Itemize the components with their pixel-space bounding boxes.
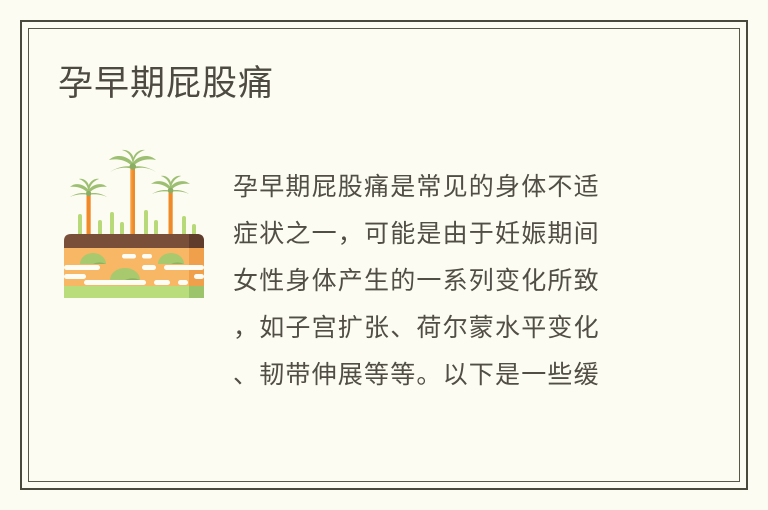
palm-tree-center-icon — [109, 150, 156, 236]
grass-blades-icon — [78, 210, 196, 236]
soil-cross-section — [64, 234, 204, 298]
article-illustration — [58, 148, 210, 298]
page-title: 孕早期屁股痛 — [58, 61, 274, 107]
article-body: 孕早期屁股痛是常见的身体不适 症状之一，可能是由于妊娠期间 女性身体产生的一系列… — [233, 163, 645, 398]
page-root: 孕早期屁股痛 — [0, 0, 768, 510]
body-line: 女性身体产生的一系列变化所致 — [233, 257, 645, 304]
article-content: 孕早期屁股痛 — [0, 0, 768, 510]
palm-trees-soil-cross-section-icon — [58, 148, 210, 298]
body-line: 孕早期屁股痛是常见的身体不适 — [233, 163, 645, 210]
body-line: ，如子宫扩张、荷尔蒙水平变化 — [233, 304, 645, 351]
body-line: 症状之一，可能是由于妊娠期间 — [233, 210, 645, 257]
body-line: 、韧带伸展等等。以下是一些缓 — [233, 351, 645, 398]
